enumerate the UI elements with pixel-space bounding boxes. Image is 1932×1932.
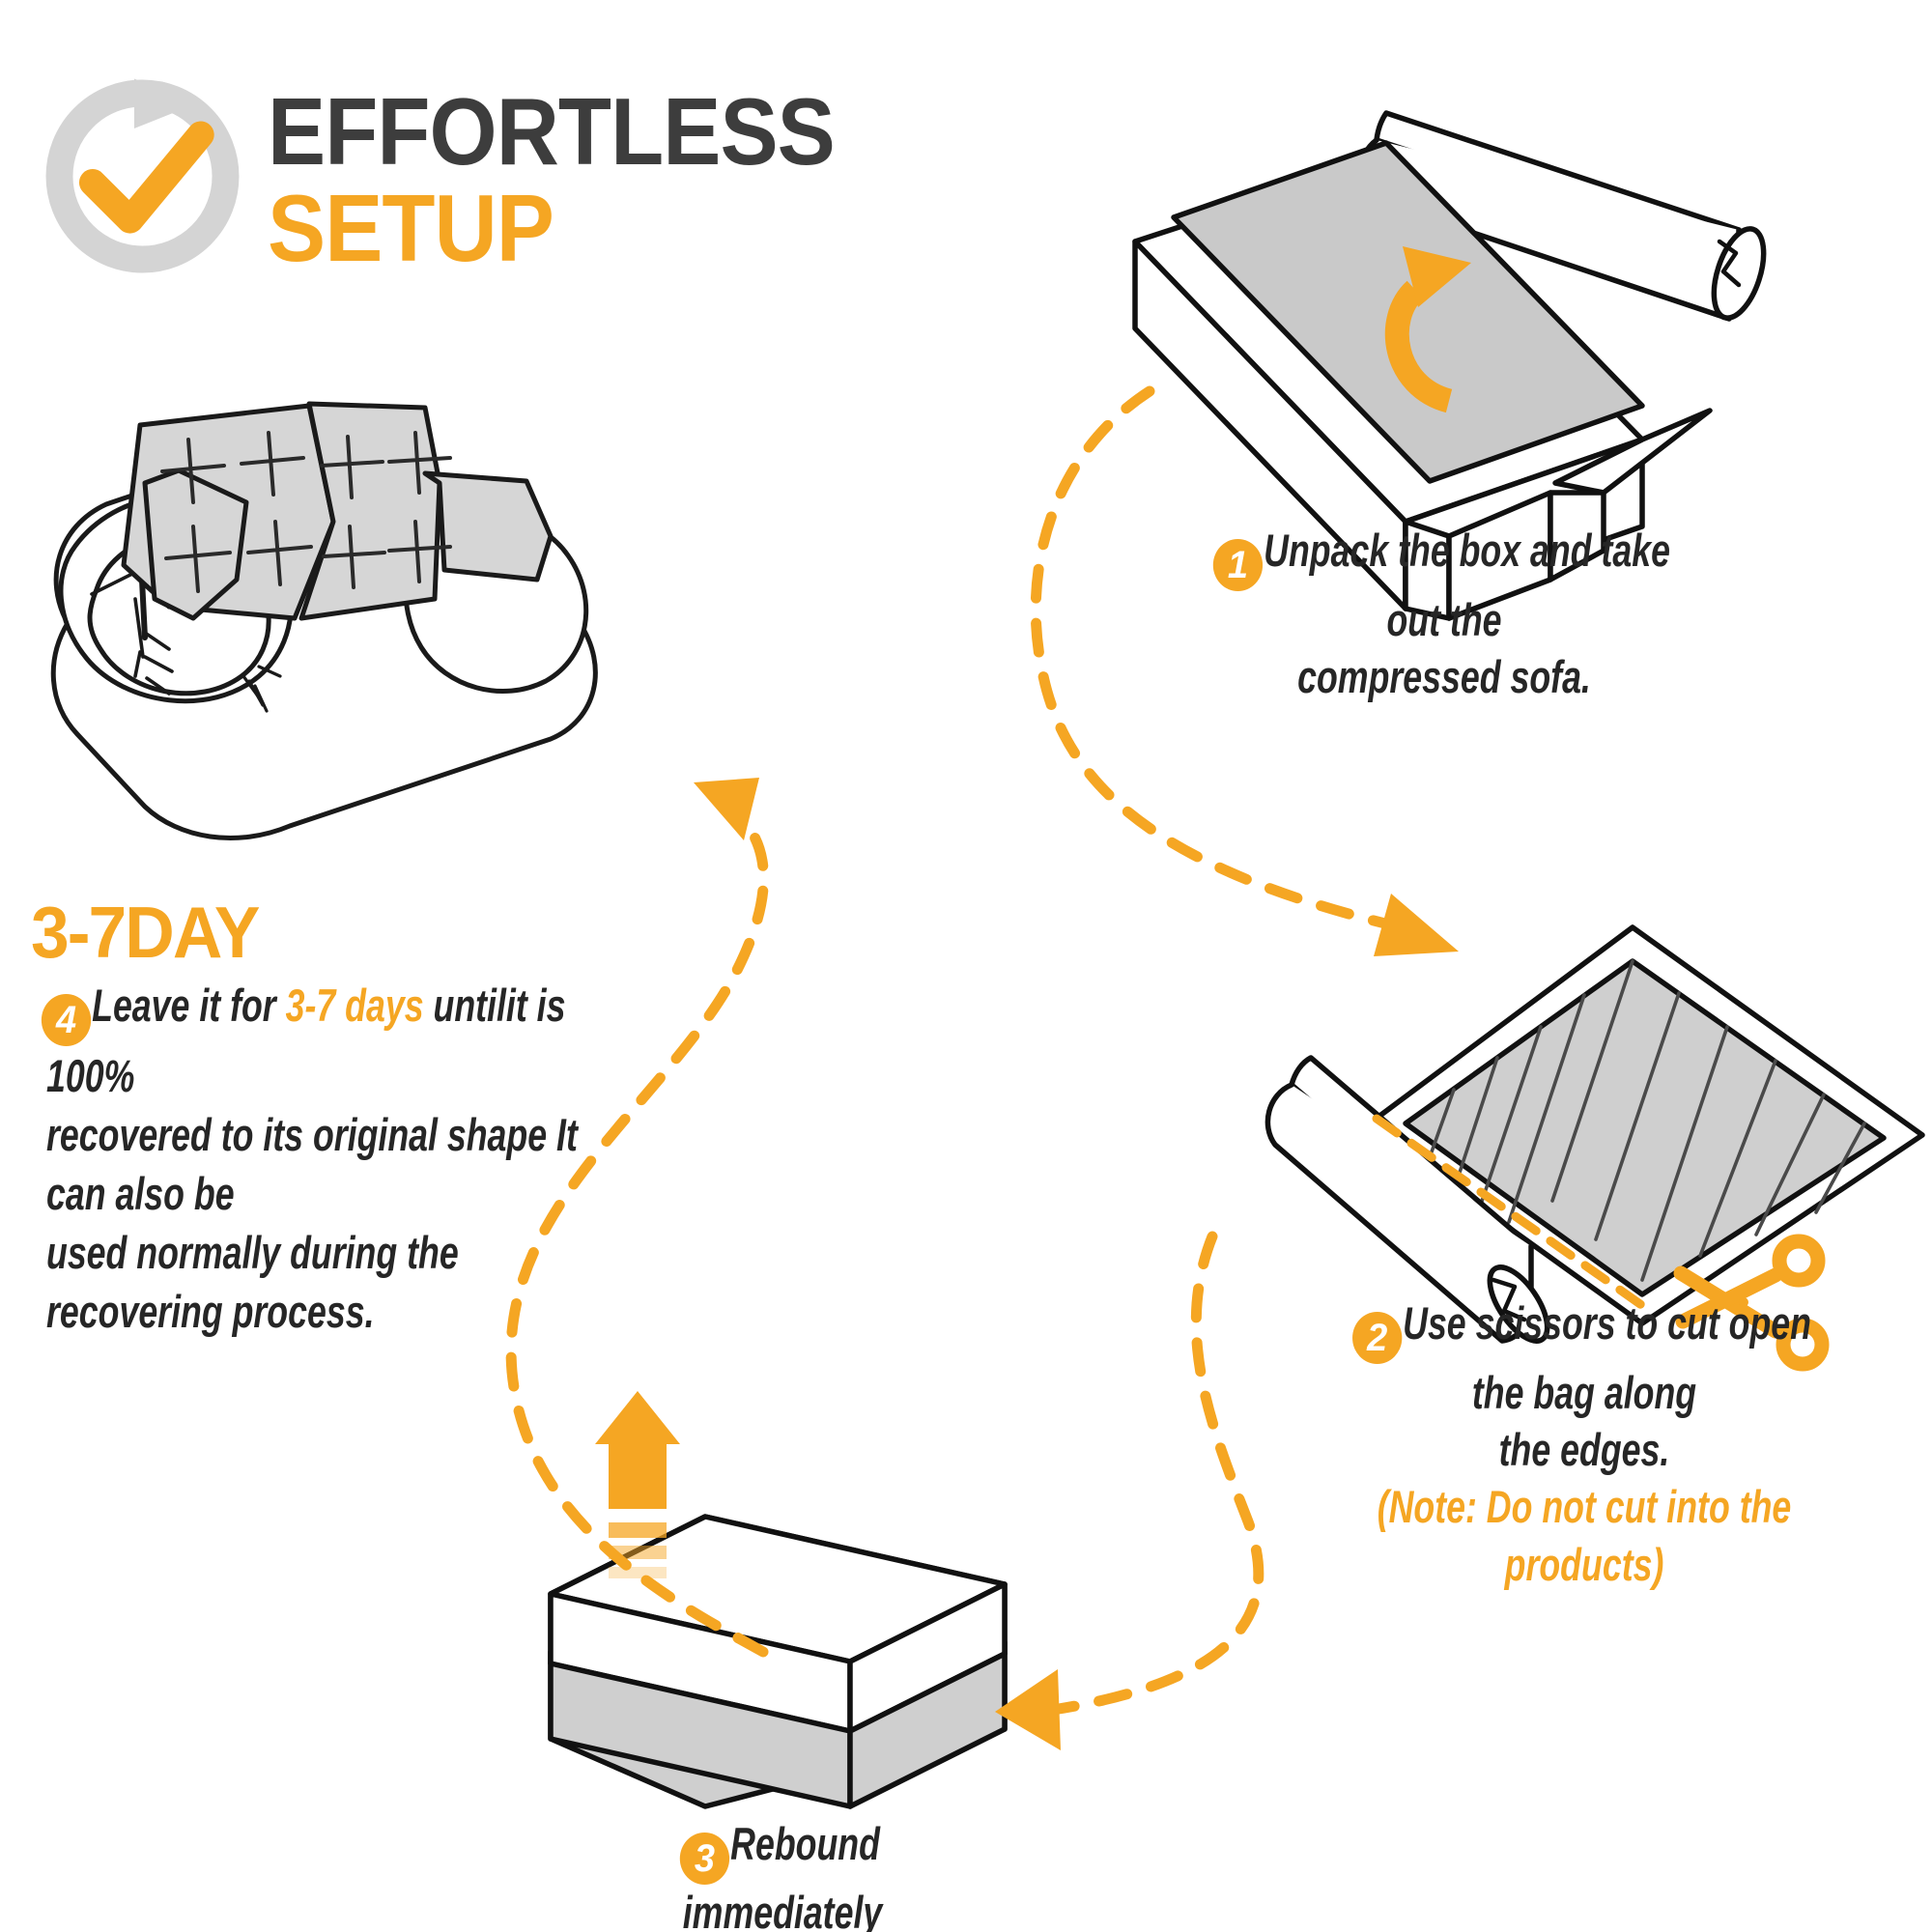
page-title-primary: EFFORTLESS xyxy=(268,86,835,177)
illustration-finished-sofa xyxy=(53,404,595,838)
step-1-text-block: 1Unpack the box and take out the compres… xyxy=(1106,522,1782,705)
step-2-line-1: Use scissors to cut open the bag along xyxy=(1403,1297,1811,1418)
step-2-line-2: the edges. xyxy=(1327,1421,1841,1478)
day-range-heading: 3-7DAY xyxy=(31,891,258,974)
illustration-layer xyxy=(0,0,1932,1932)
illustration-rebound-block xyxy=(551,1391,1005,1806)
page-title-secondary: SETUP xyxy=(268,183,835,273)
step-2-note: (Note: Do not cut into the products) xyxy=(1327,1478,1841,1592)
arrowhead-step4 xyxy=(694,778,759,840)
step-1-badge: 1 xyxy=(1213,539,1263,591)
step-4-line-1-pre: Leave it for xyxy=(92,980,285,1031)
arrow-step2-to-step3 xyxy=(1053,1236,1259,1710)
step-4-highlight: 3-7 days xyxy=(286,980,424,1031)
infographic-page: EFFORTLESS SETUP 3-7DAY 1Unpack the box … xyxy=(0,0,1932,1932)
step-1-line-1: Unpack the box and take out the xyxy=(1264,525,1670,645)
step-3-badge: 3 xyxy=(680,1833,729,1885)
step-4-text-block: 4Leave it for 3-7 days untilit is 100% r… xyxy=(46,976,771,1341)
page-header: EFFORTLESS SETUP xyxy=(39,72,884,280)
step-3-text-block: 3Rebound immediately Simple Installation… xyxy=(555,1816,1009,1932)
step-4-line-3: used normally during the recovering proc… xyxy=(46,1223,597,1341)
refresh-check-icon xyxy=(39,72,246,280)
step-4-line-2: recovered to its original shape It can a… xyxy=(46,1105,597,1223)
step-1-line-2: compressed sofa. xyxy=(1187,648,1701,705)
step-2-badge: 2 xyxy=(1352,1312,1402,1364)
step-4-badge: 4 xyxy=(42,994,91,1046)
step-2-text-block: 2Use scissors to cut open the bag along … xyxy=(1246,1294,1922,1593)
arrowhead-step2 xyxy=(1374,894,1459,956)
